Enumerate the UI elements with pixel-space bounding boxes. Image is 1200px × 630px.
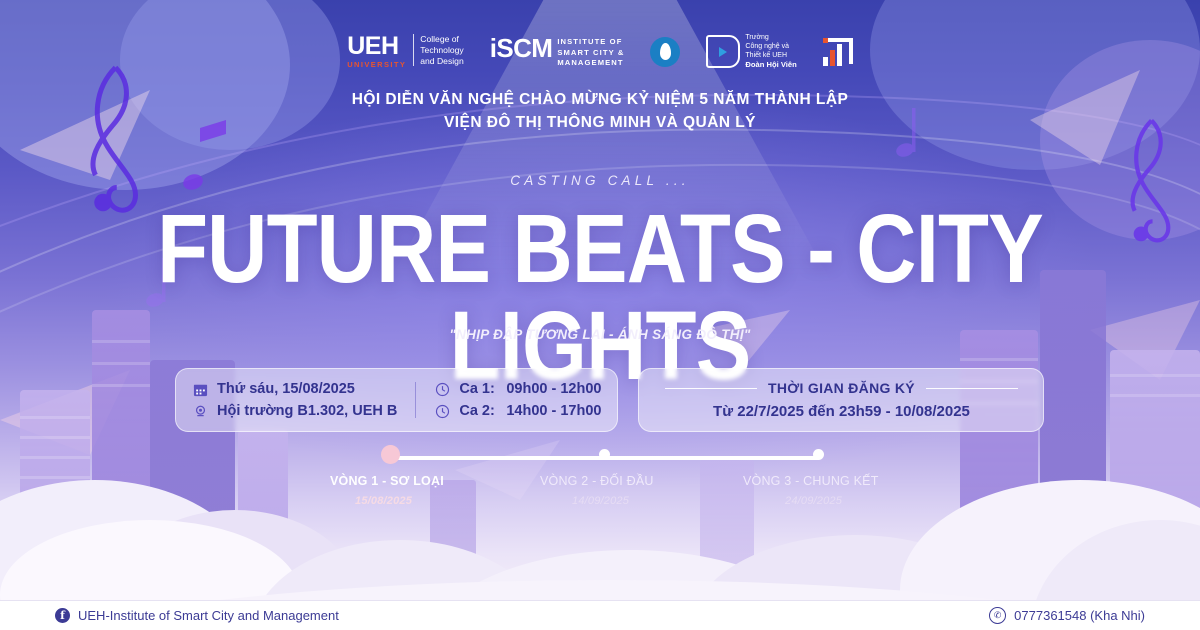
ctd-book-icon [706,35,740,68]
round-2-label: VÒNG 2 - ĐỐI ĐẦU [540,474,654,488]
bars-logo-icon [823,38,853,66]
registration-box: THỜI GIAN ĐĂNG KÝ Từ 22/7/2025 đến 23h59… [638,368,1044,432]
tagline: "NHỊP ĐẬP TƯƠNG LAI - ÁNH SÁNG ĐÔ THỊ" [0,327,1200,342]
timeline-point-3 [813,449,824,460]
venue-row: Hội trường B1.302, UEH B [192,403,397,419]
round-1-label: VÒNG 1 - SƠ LOẠI [330,474,444,488]
rule-left [665,388,757,389]
event-title-line2: VIỆN ĐÔ THỊ THÔNG MINH VÀ QUẢN LÝ [0,111,1200,134]
round-1-date: 15/08/2025 [355,495,412,507]
casting-call-kicker: CASTING CALL ... [0,173,1200,188]
page-title: FUTURE BEATS - CITY LIGHTS [84,200,1116,394]
clock-icon [434,403,450,419]
vertical-divider [415,382,416,418]
schedule-box: Thứ sáu, 15/08/2025 Hội trường B1.302, U… [175,368,618,432]
date-row: Thứ sáu, 15/08/2025 [192,381,397,397]
round-2-date: 14/09/2025 [572,495,629,507]
phone-number: 0777361548 (Kha Nhi) [1014,608,1145,623]
facebook-contact[interactable]: f UEH-Institute of Smart City and Manage… [55,608,339,623]
timeline-point-2 [599,449,610,460]
event-title: HỘI DIỄN VĂN NGHỆ CHÀO MỪNG KỶ NIỆM 5 NĂ… [0,88,1200,135]
rounds-timeline: VÒNG 1 - SƠ LOẠI 15/08/2025 VÒNG 2 - ĐỐI… [385,450,825,520]
round-3-label: VÒNG 3 - CHUNG KẾT [743,474,879,488]
shifts-column: Ca 1: 09h00 - 12h00 Ca 2: 14h00 - 17h00 [434,381,601,419]
phone-contact[interactable]: ✆ 0777361548 (Kha Nhi) [989,607,1145,624]
ctd-label: Trường Công nghệ và Thiết kế UEH Đoàn Hộ… [745,33,796,70]
clock-icon [434,381,450,397]
registration-range: Từ 22/7/2025 đến 23h59 - 10/08/2025 [655,403,1027,420]
info-bar: Thứ sáu, 15/08/2025 Hội trường B1.302, U… [175,368,1044,432]
rule-right [926,388,1018,389]
logo-ctd-youth-union: Trường Công nghệ và Thiết kế UEH Đoàn Hộ… [706,33,796,70]
registration-heading: THỜI GIAN ĐĂNG KÝ [768,380,915,396]
phone-icon: ✆ [989,607,1006,624]
ueh-wordmark: UEH [347,34,398,59]
location-pin-icon [192,403,208,419]
shift-1-row: Ca 1: 09h00 - 12h00 [434,381,601,397]
ueh-university-label: UNIVERSITY [347,61,406,69]
calendar-icon [192,381,208,397]
student-association-seal-icon [650,37,680,67]
facebook-icon: f [55,608,70,623]
round-3-date: 24/09/2025 [785,495,842,507]
logo-ueh: UEH UNIVERSITY College of Technology and… [347,34,464,69]
timeline-dot-active [381,445,400,464]
iscm-subtitle: INSTITUTE OF SMART CITY & MANAGEMENT [557,37,624,68]
shift-1-label: Ca 1: [459,381,497,397]
logo-iscm: iSCM INSTITUTE OF SMART CITY & MANAGEMEN… [490,35,625,68]
logo-strip: UEH UNIVERSITY College of Technology and… [0,33,1200,70]
shift-2-time: 14h00 - 17h00 [506,403,601,419]
registration-heading-row: THỜI GIAN ĐĂNG KÝ [655,380,1027,396]
event-date: Thứ sáu, 15/08/2025 [217,381,355,397]
shift-2-label: Ca 2: [459,403,497,419]
date-venue-column: Thứ sáu, 15/08/2025 Hội trường B1.302, U… [192,381,397,419]
event-title-line1: HỘI DIỄN VĂN NGHỆ CHÀO MỪNG KỶ NIỆM 5 NĂ… [0,88,1200,111]
shift-2-row: Ca 2: 14h00 - 17h00 [434,403,601,419]
shift-1-time: 09h00 - 12h00 [506,381,601,397]
ueh-college-label: College of Technology and Design [413,34,463,66]
event-venue: Hội trường B1.302, UEH B [217,403,397,419]
timeline-point-1 [385,449,400,464]
facebook-page-name: UEH-Institute of Smart City and Manageme… [78,608,339,623]
timeline-dot [599,449,610,460]
timeline-dot [813,449,824,460]
iscm-wordmark: iSCM [490,35,553,61]
poster-canvas: UEH UNIVERSITY College of Technology and… [0,0,1200,630]
footer-bar: f UEH-Institute of Smart City and Manage… [0,600,1200,630]
